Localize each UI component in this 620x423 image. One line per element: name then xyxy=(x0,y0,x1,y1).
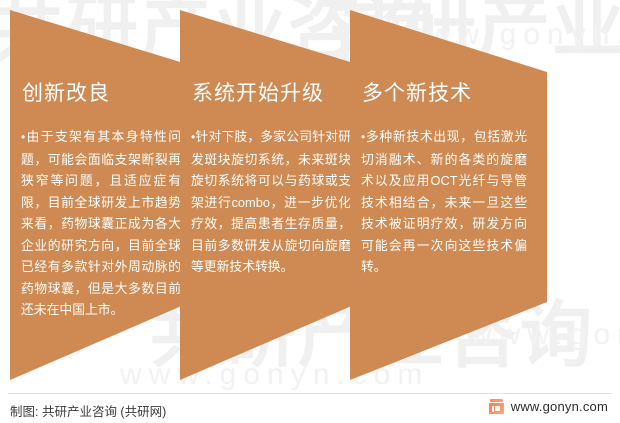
panel-body-text: 针对下肢，多家公司针对研发斑块旋切系统，未来斑块旋切系统将可以与药球或支架进行c… xyxy=(191,129,351,274)
panel-title: 系统开始升级 xyxy=(192,82,324,105)
panel-body: •多种新技术出现，包括激光切消融术、新的各类的旋磨术以及应用OCT光纤与导管技术… xyxy=(361,126,527,278)
panel-new-technologies: 多个新技术 •多种新技术出现，包括激光切消融术、新的各类的旋磨术以及应用OCT光… xyxy=(350,0,547,395)
panel-body-text: 由于支架有其本身特性问题，可能会面临支架断裂再狭窄等问题，且适应症有限，目前全球… xyxy=(21,129,181,317)
footer-divider xyxy=(8,393,612,394)
gonyn-brand-icon xyxy=(489,399,504,414)
footer: 制图: 共研产业咨询 (共研网) www.gonyn.com xyxy=(0,393,620,423)
panel-innovation: 创新改良 •由于支架有其本身特性问题，可能会面临支架断裂再狭窄等问题，且适应症有… xyxy=(10,0,200,395)
panel-content: 创新改良 •由于支架有其本身特性问题，可能会面临支架断裂再狭窄等问题，且适应症有… xyxy=(10,0,200,395)
panel-group: 创新改良 •由于支架有其本身特性问题，可能会面临支架断裂再狭窄等问题，且适应症有… xyxy=(0,0,620,395)
infographic-canvas: 共研产业咨询 共研产业咨询 共研产业咨询 www.gonyn.com www.g… xyxy=(0,0,620,423)
footer-credit: 制图: 共研产业咨询 (共研网) xyxy=(10,401,166,420)
panel-content: 系统开始升级 •针对下肢，多家公司针对研发斑块旋切系统，未来斑块旋切系统将可以与… xyxy=(180,0,370,395)
footer-brand[interactable]: www.gonyn.com xyxy=(489,399,608,414)
panel-title: 创新改良 xyxy=(22,82,110,105)
footer-url[interactable]: www.gonyn.com xyxy=(511,399,608,414)
panel-content: 多个新技术 •多种新技术出现，包括激光切消融术、新的各类的旋磨术以及应用OCT光… xyxy=(350,0,547,395)
panel-body: •由于支架有其本身特性问题，可能会面临支架断裂再狭窄等问题，且适应症有限，目前全… xyxy=(21,126,181,321)
panel-system-upgrade: 系统开始升级 •针对下肢，多家公司针对研发斑块旋切系统，未来斑块旋切系统将可以与… xyxy=(180,0,370,395)
panel-body-text: 多种新技术出现，包括激光切消融术、新的各类的旋磨术以及应用OCT光纤与导管技术相… xyxy=(361,129,527,274)
panel-body: •针对下肢，多家公司针对研发斑块旋切系统，未来斑块旋切系统将可以与药球或支架进行… xyxy=(191,126,351,278)
panel-title: 多个新技术 xyxy=(362,82,472,105)
